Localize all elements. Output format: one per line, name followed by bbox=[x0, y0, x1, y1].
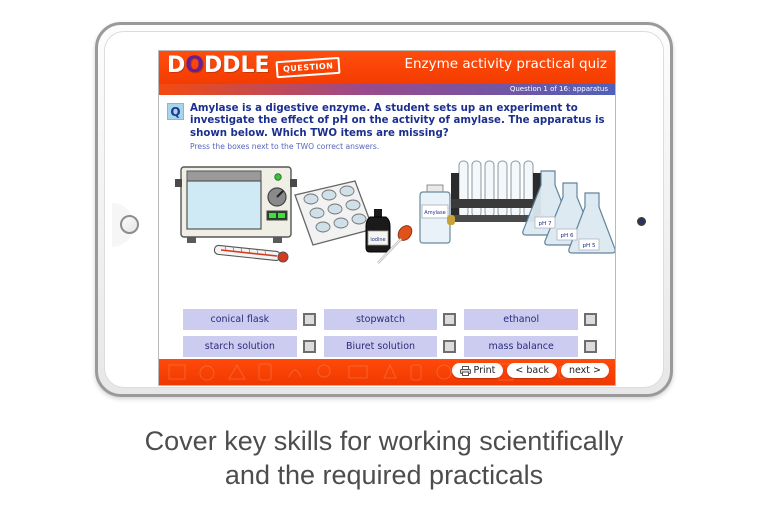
thermometer-icon bbox=[214, 245, 288, 262]
progress-label: Question 1 of 16: apparatus bbox=[510, 84, 608, 95]
progress-bar: Question 1 of 16: apparatus bbox=[159, 84, 615, 95]
screenshot-root: DODDLE QUESTION Enzyme activity practica… bbox=[0, 0, 768, 520]
option-checkbox[interactable] bbox=[443, 340, 456, 353]
option-label[interactable]: ethanol bbox=[464, 309, 578, 330]
caption-line-1: Cover key skills for working scientifica… bbox=[0, 424, 768, 458]
answer-options: conical flask stopwatch ethanol starch s… bbox=[183, 309, 597, 357]
marketing-caption: Cover key skills for working scientifica… bbox=[0, 424, 768, 492]
option-label[interactable]: mass balance bbox=[464, 336, 578, 357]
tablet-device: DODDLE QUESTION Enzyme activity practica… bbox=[95, 22, 673, 397]
caption-line-2: and the required practicals bbox=[0, 458, 768, 492]
option-row[interactable]: conical flask bbox=[183, 309, 316, 330]
footer-buttons: Print < back next > bbox=[452, 363, 609, 378]
printer-icon bbox=[460, 366, 471, 376]
option-row[interactable]: starch solution bbox=[183, 336, 316, 357]
question-block: Q Amylase is a digestive enzyme. A stude… bbox=[159, 95, 615, 151]
option-label[interactable]: Biuret solution bbox=[324, 336, 438, 357]
question-instruction: Press the boxes next to the TWO correct … bbox=[190, 142, 605, 151]
slide-header: DODDLE QUESTION Enzyme activity practica… bbox=[159, 51, 615, 84]
option-checkbox[interactable] bbox=[443, 313, 456, 326]
svg-text:iodine: iodine bbox=[370, 237, 385, 243]
apparatus-illustration: iodine Amylase bbox=[159, 153, 615, 281]
option-checkbox[interactable] bbox=[584, 340, 597, 353]
option-row[interactable]: mass balance bbox=[464, 336, 597, 357]
question-text: Amylase is a digestive enzyme. A student… bbox=[190, 103, 605, 140]
quiz-slide: DODDLE QUESTION Enzyme activity practica… bbox=[158, 50, 616, 386]
slide-footer: Print < back next > bbox=[159, 359, 615, 385]
option-checkbox[interactable] bbox=[584, 313, 597, 326]
water-bath-icon bbox=[175, 167, 297, 243]
print-button[interactable]: Print bbox=[452, 363, 504, 378]
back-button-label: < back bbox=[515, 365, 549, 376]
option-row[interactable]: stopwatch bbox=[324, 309, 457, 330]
back-button[interactable]: < back bbox=[507, 363, 557, 378]
option-row[interactable]: ethanol bbox=[464, 309, 597, 330]
home-button[interactable] bbox=[120, 215, 139, 234]
svg-text:pH 6: pH 6 bbox=[560, 233, 574, 239]
option-label[interactable]: stopwatch bbox=[324, 309, 438, 330]
option-label[interactable]: starch solution bbox=[183, 336, 297, 357]
svg-text:pH 7: pH 7 bbox=[538, 221, 552, 227]
logo-text: DODDLE bbox=[167, 55, 270, 77]
doddle-logo[interactable]: DODDLE QUESTION bbox=[167, 55, 340, 77]
camera-icon bbox=[637, 217, 646, 226]
question-stamp-badge: QUESTION bbox=[275, 56, 340, 77]
next-button-label: next > bbox=[569, 365, 601, 376]
question-badge-icon: Q bbox=[167, 103, 184, 120]
svg-text:Amylase: Amylase bbox=[424, 210, 445, 216]
apparatus-svg: iodine Amylase bbox=[159, 153, 616, 281]
spotting-tile-icon bbox=[295, 181, 373, 245]
option-checkbox[interactable] bbox=[303, 340, 316, 353]
option-row[interactable]: Biuret solution bbox=[324, 336, 457, 357]
quiz-title: Enzyme activity practical quiz bbox=[404, 56, 607, 72]
next-button[interactable]: next > bbox=[561, 363, 609, 378]
print-button-label: Print bbox=[474, 365, 496, 376]
amylase-jar-icon: Amylase bbox=[420, 185, 450, 243]
svg-text:pH 5: pH 5 bbox=[582, 243, 596, 249]
option-checkbox[interactable] bbox=[303, 313, 316, 326]
iodine-bottle-icon: iodine bbox=[366, 209, 390, 252]
option-label[interactable]: conical flask bbox=[183, 309, 297, 330]
